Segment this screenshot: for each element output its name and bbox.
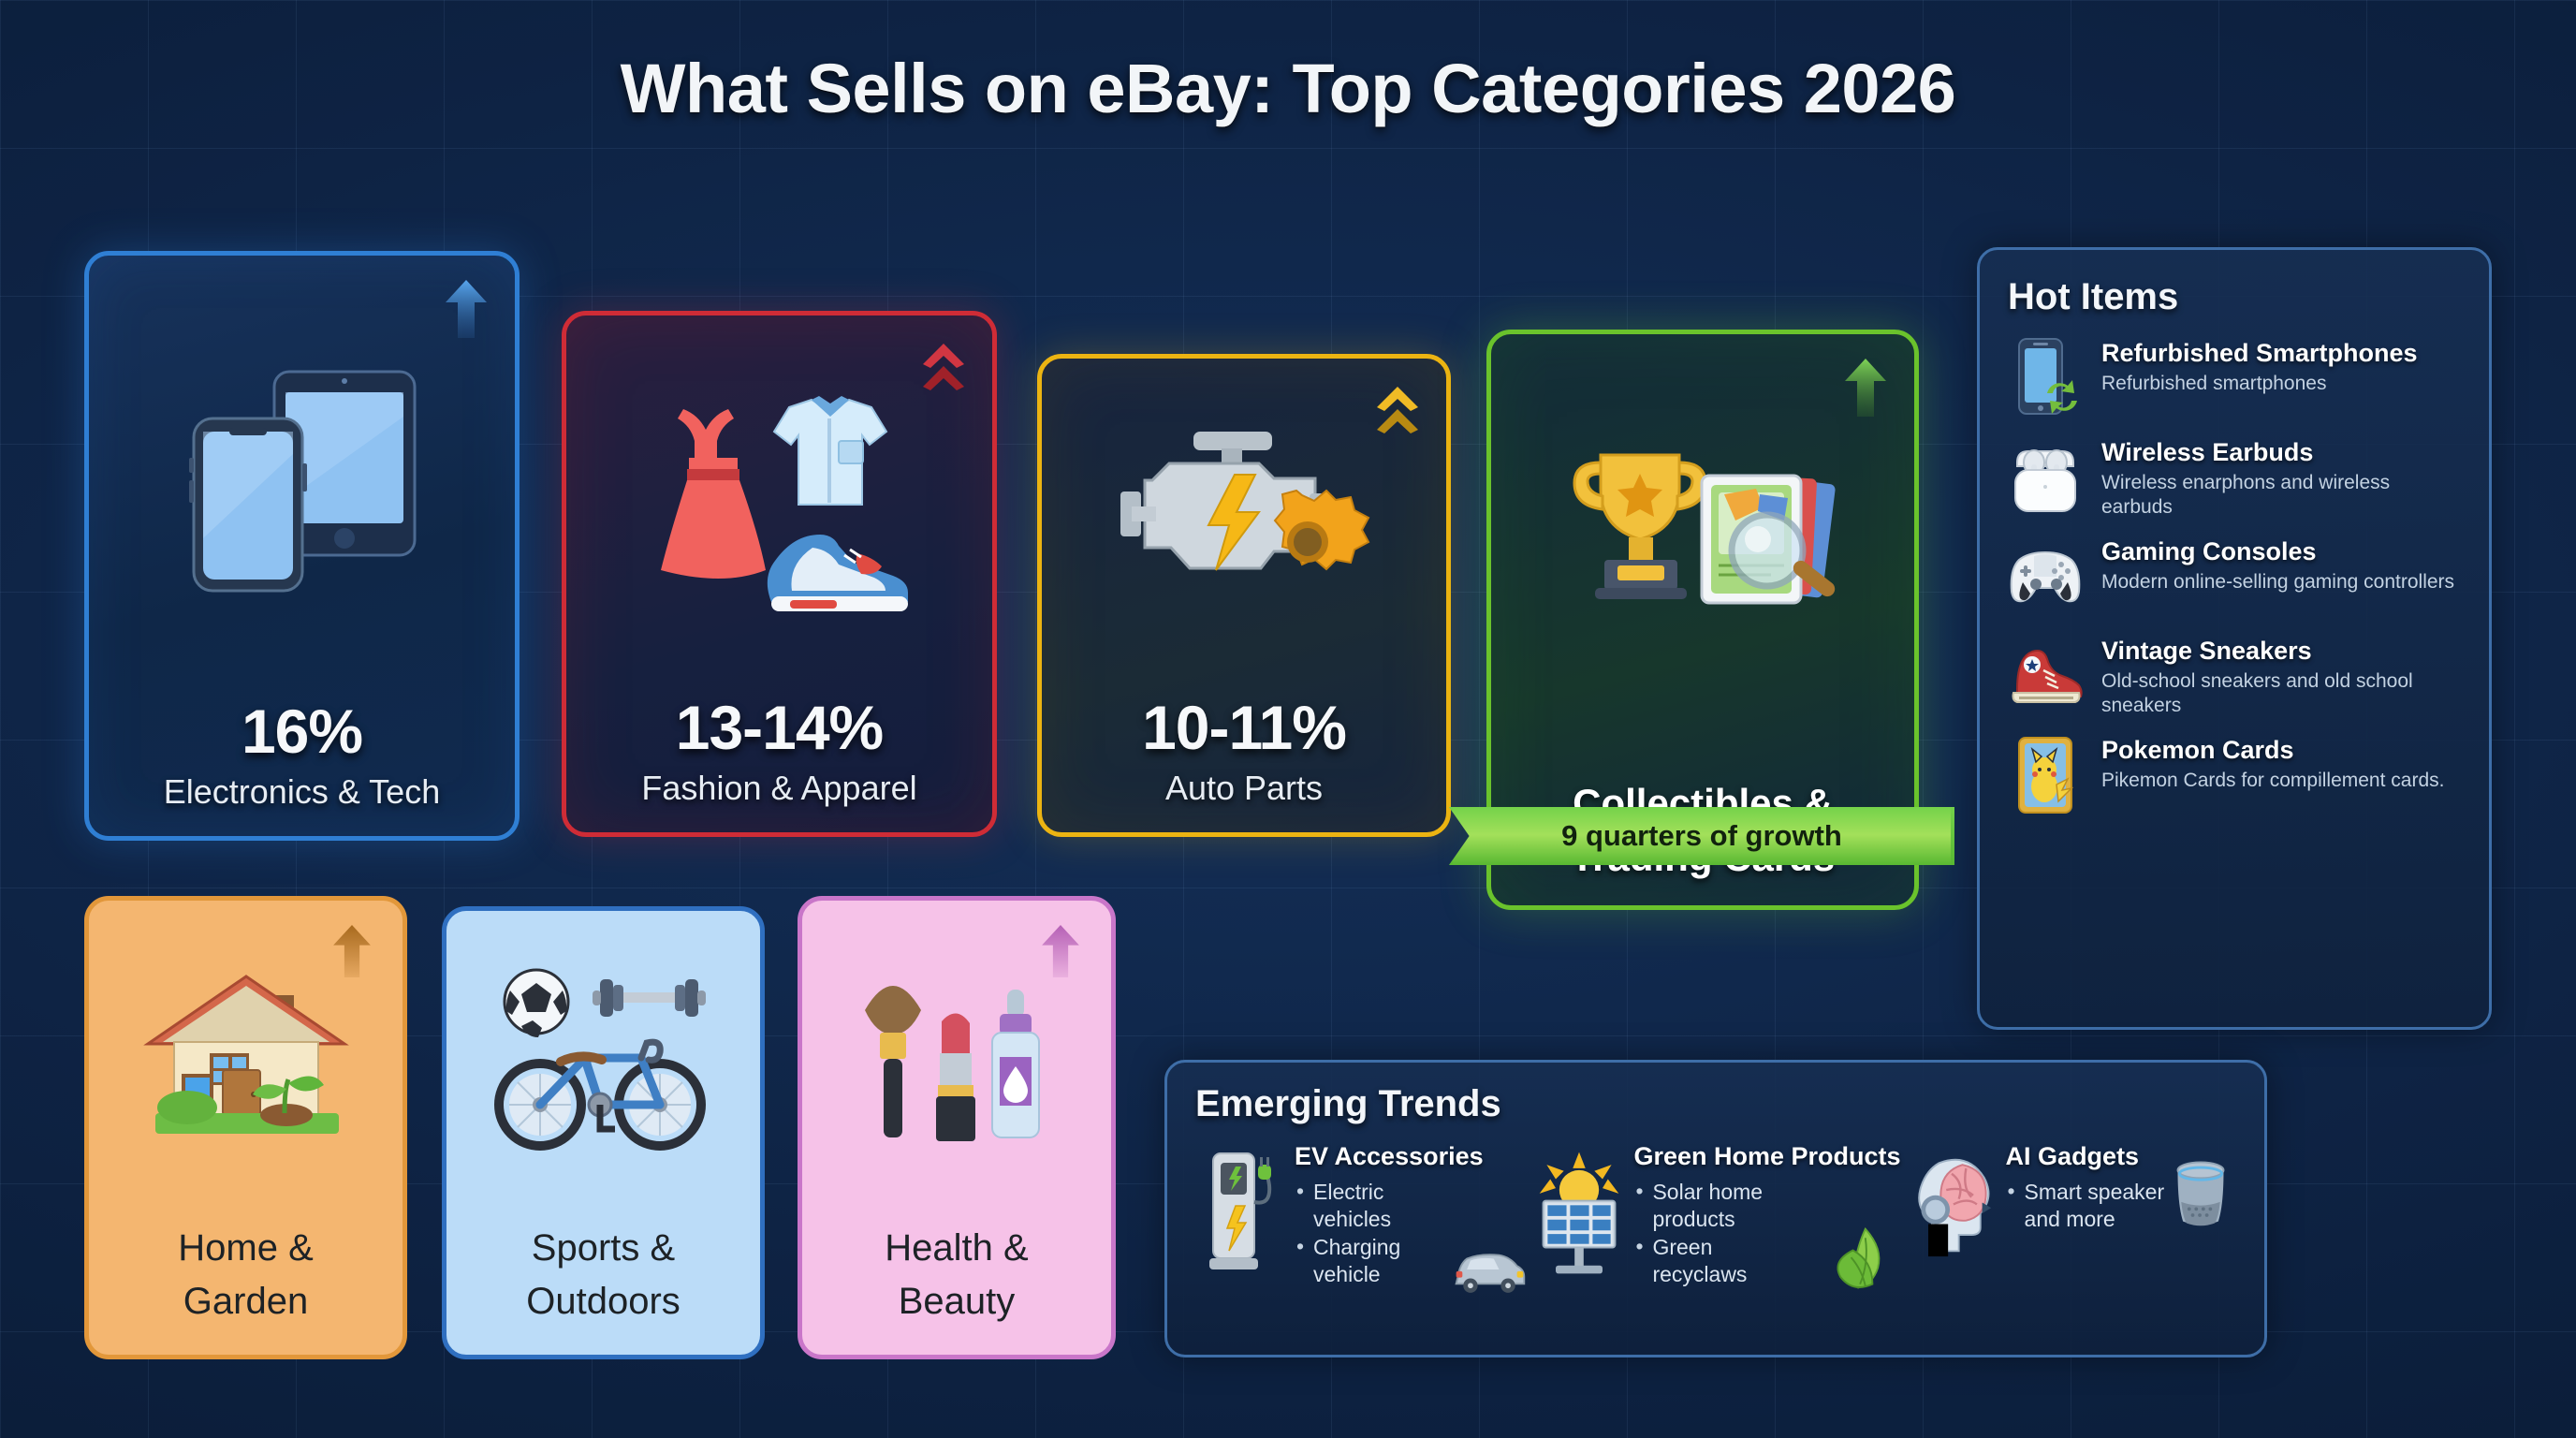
list-item[interactable]: Vintage Sneakers Old-school sneakers and…	[2008, 633, 2461, 719]
card-percent: 16%	[89, 700, 515, 763]
category-card-home-garden[interactable]: Home & Garden	[84, 896, 407, 1359]
trend-column-ai-gadgets[interactable]: AI Gadgets Smart speaker and more	[1907, 1138, 2240, 1288]
hot-item-desc: Old-school sneakers and old school sneak…	[2101, 669, 2461, 717]
earbuds-case-icon	[2008, 434, 2083, 521]
smart-speaker-icon	[2158, 1172, 2244, 1240]
double-chevron-up-icon	[923, 340, 964, 398]
double-chevron-up-icon	[1377, 383, 1418, 441]
trend-bullet: Charging vehicle	[1295, 1234, 1463, 1287]
card-label-line2: Outdoors	[446, 1280, 760, 1323]
hot-item-title: Gaming Consoles	[2101, 537, 2454, 566]
card-label-line1: Sports &	[446, 1226, 760, 1269]
trend-title: Green Home Products	[1633, 1142, 1900, 1171]
growth-badge-ribbon: 9 quarters of growth	[1449, 807, 1954, 865]
card-percent: 13-14%	[566, 697, 992, 759]
hot-item-desc: Pikemon Cards for compillement cards.	[2101, 769, 2444, 793]
card-label: Auto Parts	[1042, 769, 1446, 808]
pokemon-card-icon	[2008, 732, 2083, 818]
growth-badge-text: 9 quarters of growth	[1561, 819, 1842, 853]
up-arrow-icon	[1042, 925, 1083, 983]
category-card-fashion[interactable]: 13-14% Fashion & Apparel	[562, 311, 997, 837]
emerging-trends-heading: Emerging Trends	[1195, 1083, 2240, 1125]
ev-charger-icon	[1195, 1138, 1285, 1288]
card-label: Electronics & Tech	[89, 772, 515, 812]
up-arrow-icon	[446, 280, 487, 338]
hot-item-title: Vintage Sneakers	[2101, 637, 2461, 666]
card-label-line1: Home &	[89, 1226, 402, 1269]
trend-bullet: Electric vehicles	[1295, 1179, 1463, 1232]
smartphone-refresh-icon	[2008, 335, 2083, 421]
card-label-line2: Beauty	[802, 1280, 1111, 1323]
list-item[interactable]: Gaming Consoles Modern online-selling ga…	[2008, 534, 2461, 620]
list-item[interactable]: Refurbished Smartphones Refurbished smar…	[2008, 335, 2461, 421]
trend-bullet: Green recyclaws	[1633, 1234, 1802, 1287]
hot-item-desc: Modern online-selling gaming controllers	[2101, 570, 2454, 594]
hot-items-panel: Hot Items Refurbished Smartphones Refurb…	[1977, 247, 2492, 1030]
card-percent: 10-11%	[1042, 697, 1446, 759]
hot-item-title: Wireless Earbuds	[2101, 438, 2461, 467]
category-card-sports-outdoors[interactable]: Sports & Outdoors	[442, 906, 765, 1359]
emerging-trends-panel: Emerging Trends EV Accessories	[1164, 1060, 2267, 1357]
electric-car-icon	[1446, 1227, 1532, 1295]
trend-bullet: Smart speaker and more	[2006, 1179, 2174, 1232]
hot-item-title: Pokemon Cards	[2101, 736, 2444, 765]
ai-brain-head-icon	[1907, 1138, 1997, 1288]
hot-items-heading: Hot Items	[2008, 276, 2461, 318]
trend-column-green-home[interactable]: Green Home Products Solar home products …	[1534, 1138, 1900, 1289]
list-item[interactable]: Pokemon Cards Pikemon Cards for compille…	[2008, 732, 2461, 818]
category-card-electronics[interactable]: 16% Electronics & Tech	[84, 251, 520, 841]
trend-title: EV Accessories	[1295, 1142, 1529, 1171]
solar-panel-icon	[1534, 1138, 1624, 1288]
hot-item-desc: Refurbished smartphones	[2101, 372, 2418, 396]
trend-column-ev-accessories[interactable]: EV Accessories Electric vehicles Chargin…	[1195, 1138, 1529, 1289]
leaf-icon	[1819, 1227, 1905, 1295]
category-card-auto-parts[interactable]: 10-11% Auto Parts	[1037, 354, 1451, 837]
up-arrow-icon	[1845, 359, 1886, 417]
hot-item-desc: Wireless enarphons and wireless earbuds	[2101, 471, 2461, 519]
card-label-line2: Garden	[89, 1280, 402, 1323]
card-label: Fashion & Apparel	[566, 769, 992, 808]
category-card-health-beauty[interactable]: Health & Beauty	[798, 896, 1116, 1359]
sports-outdoors-artwork	[446, 911, 760, 1217]
sneaker-icon	[2008, 633, 2083, 719]
game-controller-icon	[2008, 534, 2083, 620]
card-label-line1: Health &	[802, 1226, 1111, 1269]
list-item[interactable]: Wireless Earbuds Wireless enarphons and …	[2008, 434, 2461, 521]
trend-bullet: Solar home products	[1633, 1179, 1802, 1232]
hot-item-title: Refurbished Smartphones	[2101, 339, 2418, 368]
page-title: What Sells on eBay: Top Categories 2026	[0, 49, 2576, 128]
up-arrow-icon	[333, 925, 374, 983]
